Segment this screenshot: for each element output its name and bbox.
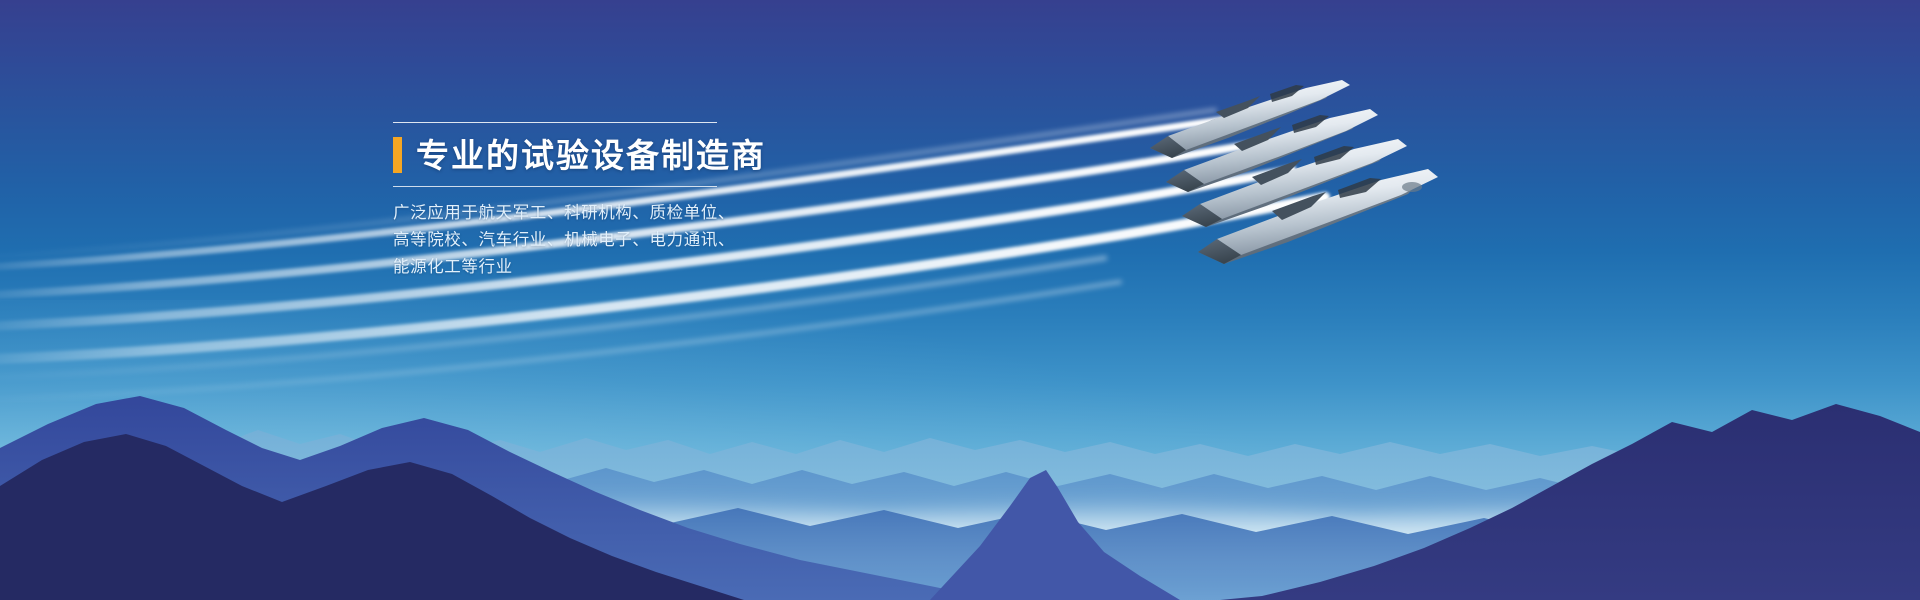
headline-rule-bottom bbox=[393, 186, 717, 187]
subtitle-line-2: 高等院校、汽车行业、机械电子、电力通讯、 bbox=[393, 227, 913, 254]
banner-copy-block: 专业的试验设备制造商 广泛应用于航天军工、科研机构、质检单位、 高等院校、汽车行… bbox=[393, 122, 913, 281]
subtitle-line-3: 能源化工等行业 bbox=[393, 254, 913, 281]
headline-row: 专业的试验设备制造商 bbox=[393, 137, 913, 173]
page-title: 专业的试验设备制造商 bbox=[416, 139, 766, 172]
hero-banner: 专业的试验设备制造商 广泛应用于航天军工、科研机构、质检单位、 高等院校、汽车行… bbox=[0, 0, 1920, 600]
sky-gradient-background bbox=[0, 0, 1920, 600]
subtitle-line-1: 广泛应用于航天军工、科研机构、质检单位、 bbox=[393, 200, 913, 227]
headline-rule-top bbox=[393, 122, 717, 123]
orange-accent-bar bbox=[393, 137, 402, 173]
